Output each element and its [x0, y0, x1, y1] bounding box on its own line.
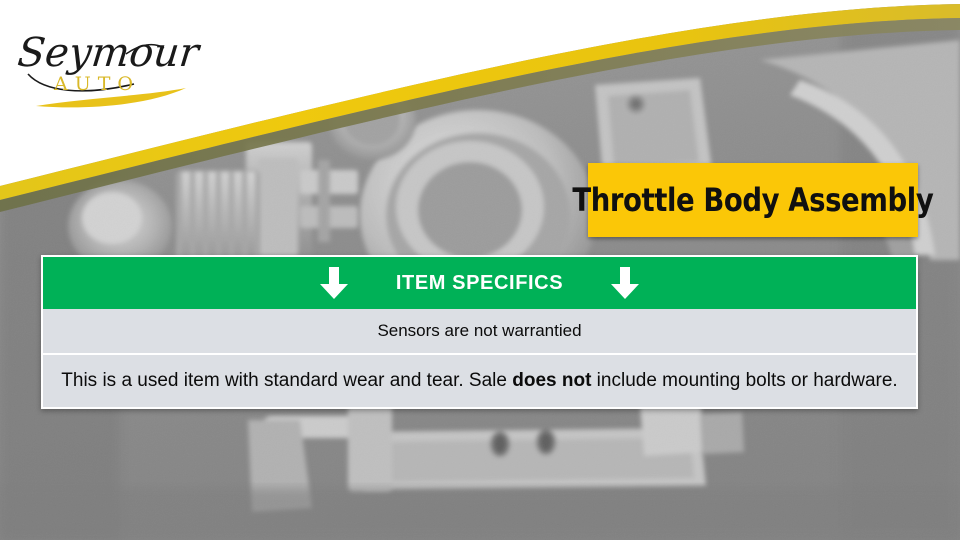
spec-disclaimer-row: This is a used item with standard wear a… [43, 355, 916, 407]
item-specifics-header: ITEM SPECIFICS [43, 257, 916, 309]
product-title-banner: Throttle Body Assembly [588, 163, 918, 237]
svg-text:Seymour: Seymour [15, 30, 203, 76]
arrow-down-icon [318, 266, 350, 300]
page-title: Throttle Body Assembly [573, 184, 934, 216]
arrow-down-icon [609, 266, 641, 300]
disclaimer-lead: This is a used item with standard wear a… [61, 370, 512, 391]
spec-disclaimer-text: This is a used item with standard wear a… [61, 370, 897, 392]
spec-note-text: Sensors are not warrantied [377, 321, 581, 341]
disclaimer-trail: include mounting bolts or hardware. [591, 370, 897, 391]
brand-logo: Seymour AUTO [14, 14, 214, 114]
svg-text:AUTO: AUTO [53, 73, 140, 95]
item-specifics-panel: ITEM SPECIFICS Sensors are not warrantie… [41, 255, 918, 409]
product-slide: Seymour AUTO Throttle Body Assembly ITEM… [0, 0, 960, 540]
item-specifics-label: ITEM SPECIFICS [396, 272, 563, 295]
disclaimer-emphasis: does not [512, 370, 591, 391]
spec-note-row: Sensors are not warrantied [43, 309, 916, 355]
